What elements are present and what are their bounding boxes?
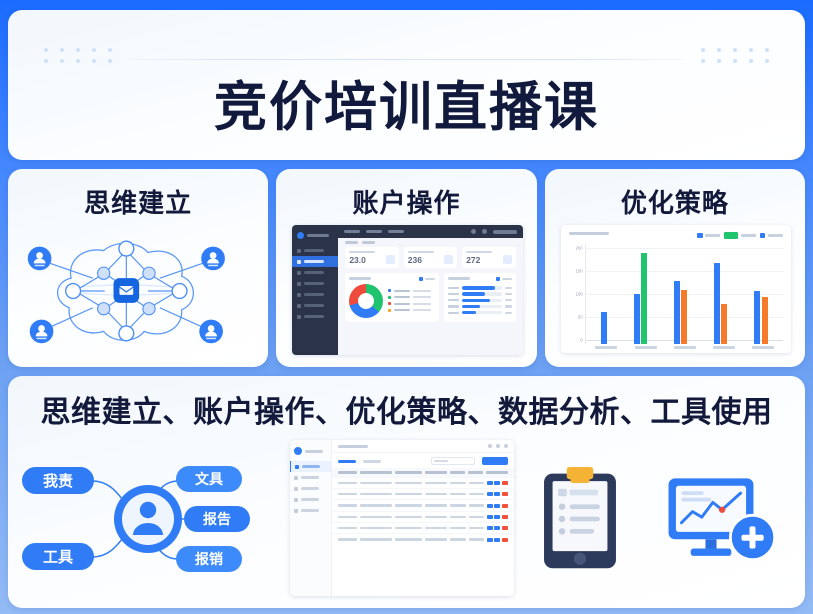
mindmap-node-label: 报告 — [203, 511, 231, 528]
table-content — [332, 440, 514, 596]
donut-legend — [388, 289, 435, 312]
donut-chart-panel — [345, 273, 439, 322]
breadcrumb — [338, 238, 522, 247]
mindmap-node-label: 报销 — [195, 551, 223, 568]
logout-icon[interactable] — [504, 444, 508, 448]
table-row[interactable] — [332, 488, 514, 499]
chart-title-bar — [569, 232, 609, 235]
submit-button[interactable] — [482, 457, 508, 465]
mindmap-node-label: 工具 — [43, 548, 73, 566]
decor-dots-left — [44, 48, 112, 63]
bar-group — [754, 244, 768, 344]
table-nav-item[interactable] — [290, 472, 331, 483]
table-row[interactable] — [332, 533, 514, 544]
dashboard-sidebar — [292, 225, 338, 355]
feature-card-title: 账户操作 — [276, 183, 536, 220]
dashboard-stat-cards: 23.0 236 272 — [338, 247, 522, 268]
feature-card-mindset[interactable]: 思维建立 — [8, 169, 268, 367]
feature-card-title: 思维建立 — [8, 183, 268, 220]
table-logo — [290, 443, 331, 461]
stat-card: 236 — [404, 247, 457, 268]
summary-card: 思维建立、账户操作、优化策略、数据分析、工具使用 我责 工具 — [8, 376, 805, 608]
table-row[interactable] — [332, 499, 514, 510]
gear-icon[interactable] — [488, 444, 492, 448]
monitor-trend-chart-icon — [663, 469, 783, 569]
dashboard-content: 23.0 236 272 — [338, 225, 522, 355]
header-divider-line — [128, 59, 685, 60]
chart-icon — [503, 255, 512, 264]
legend-item — [697, 233, 720, 239]
dashboard-topbar — [338, 225, 522, 238]
table-toolbar — [332, 453, 514, 468]
stat-card: 272 — [462, 247, 515, 268]
dashboard-panels — [338, 268, 522, 328]
dashboard-nav-item[interactable] — [292, 289, 338, 300]
legend-item — [724, 232, 756, 239]
table-nav-item[interactable] — [290, 494, 331, 505]
monitor-illustration — [640, 434, 805, 604]
bar-group — [634, 244, 648, 344]
bar-group — [674, 244, 688, 344]
dashboard-mockup-art: 23.0 236 272 — [276, 221, 536, 359]
mindmap-illustration: 我责 工具 文具 报告 报销 — [8, 434, 284, 604]
table-mockup — [290, 440, 514, 596]
page-title: 竞价培训直播课 — [8, 65, 805, 141]
table-nav-item-active[interactable] — [290, 461, 331, 472]
row-actions[interactable] — [487, 515, 508, 519]
tab-active[interactable] — [338, 460, 356, 463]
dashboard-nav-item[interactable] — [292, 278, 338, 289]
dashboard-nav-item[interactable] — [292, 245, 338, 256]
stat-value: 272 — [466, 256, 492, 264]
bar-list-panel — [444, 273, 516, 322]
chart-icon — [444, 255, 453, 264]
dashboard-nav-item-active[interactable] — [292, 256, 338, 267]
row-actions[interactable] — [487, 504, 508, 508]
legend-item — [760, 233, 783, 239]
table-row[interactable] — [332, 511, 514, 522]
network-diagram — [8, 221, 268, 359]
feature-card-optimization-strategy[interactable]: 优化策略 200150 100500 — [545, 169, 805, 367]
chart-legend — [697, 232, 783, 239]
summary-headline: 思维建立、账户操作、优化策略、数据分析、工具使用 — [8, 387, 805, 431]
bar-chart-mockup: 200150 100500 — [561, 225, 791, 353]
table-row[interactable] — [332, 522, 514, 533]
dashboard-nav-item[interactable] — [292, 267, 338, 278]
header-card: 竞价培训直播课 — [8, 10, 805, 160]
stat-card: 23.0 — [345, 247, 398, 268]
table-nav-item[interactable] — [290, 505, 331, 516]
bell-icon[interactable] — [482, 229, 487, 234]
chart-gridlines — [585, 244, 783, 344]
table-mockup-illustration — [284, 434, 520, 604]
user-chip[interactable] — [493, 230, 517, 234]
row-actions[interactable] — [487, 526, 508, 530]
feature-card-account-operations[interactable]: 账户操作 — [276, 169, 536, 367]
bell-icon[interactable] — [496, 444, 500, 448]
summary-illustration-row: 我责 工具 文具 报告 报销 — [8, 434, 805, 604]
table-row[interactable] — [332, 477, 514, 488]
table-nav-item[interactable] — [290, 483, 331, 494]
chart-icon — [386, 255, 395, 264]
gear-icon[interactable] — [471, 229, 476, 234]
table-sidebar — [290, 440, 332, 596]
tab[interactable] — [363, 460, 381, 463]
feature-cards-row: 思维建立 — [8, 169, 805, 367]
mindmap-node-label: 文具 — [195, 471, 223, 488]
donut-chart — [349, 284, 383, 318]
search-input[interactable] — [431, 457, 475, 465]
y-axis: 200150 100500 — [569, 244, 585, 344]
bar-chart-mockup-art: 200150 100500 — [545, 221, 805, 359]
chart-bars — [586, 244, 783, 344]
mindmap-node-label: 我责 — [43, 472, 73, 490]
bar-group — [714, 244, 728, 344]
stat-value: 23.0 — [349, 256, 375, 264]
decor-dots-right — [701, 48, 769, 63]
feature-card-title: 优化策略 — [545, 183, 805, 220]
dashboard-logo — [292, 228, 338, 245]
row-actions[interactable] — [487, 481, 508, 485]
dashboard-nav-item[interactable] — [292, 300, 338, 311]
dashboard-nav-item[interactable] — [292, 311, 338, 322]
clipboard-illustration — [520, 434, 640, 604]
bar-group — [601, 244, 607, 344]
chart-plot-area: 200150 100500 — [569, 244, 783, 344]
table-topbar — [332, 440, 514, 453]
row-actions[interactable] — [487, 492, 508, 496]
stat-value: 236 — [408, 256, 434, 264]
dashboard-mockup: 23.0 236 272 — [292, 225, 522, 355]
x-axis — [569, 344, 783, 349]
table-header-row — [332, 468, 514, 477]
row-actions[interactable] — [487, 538, 508, 542]
clipboard-checklist-icon — [538, 466, 622, 572]
